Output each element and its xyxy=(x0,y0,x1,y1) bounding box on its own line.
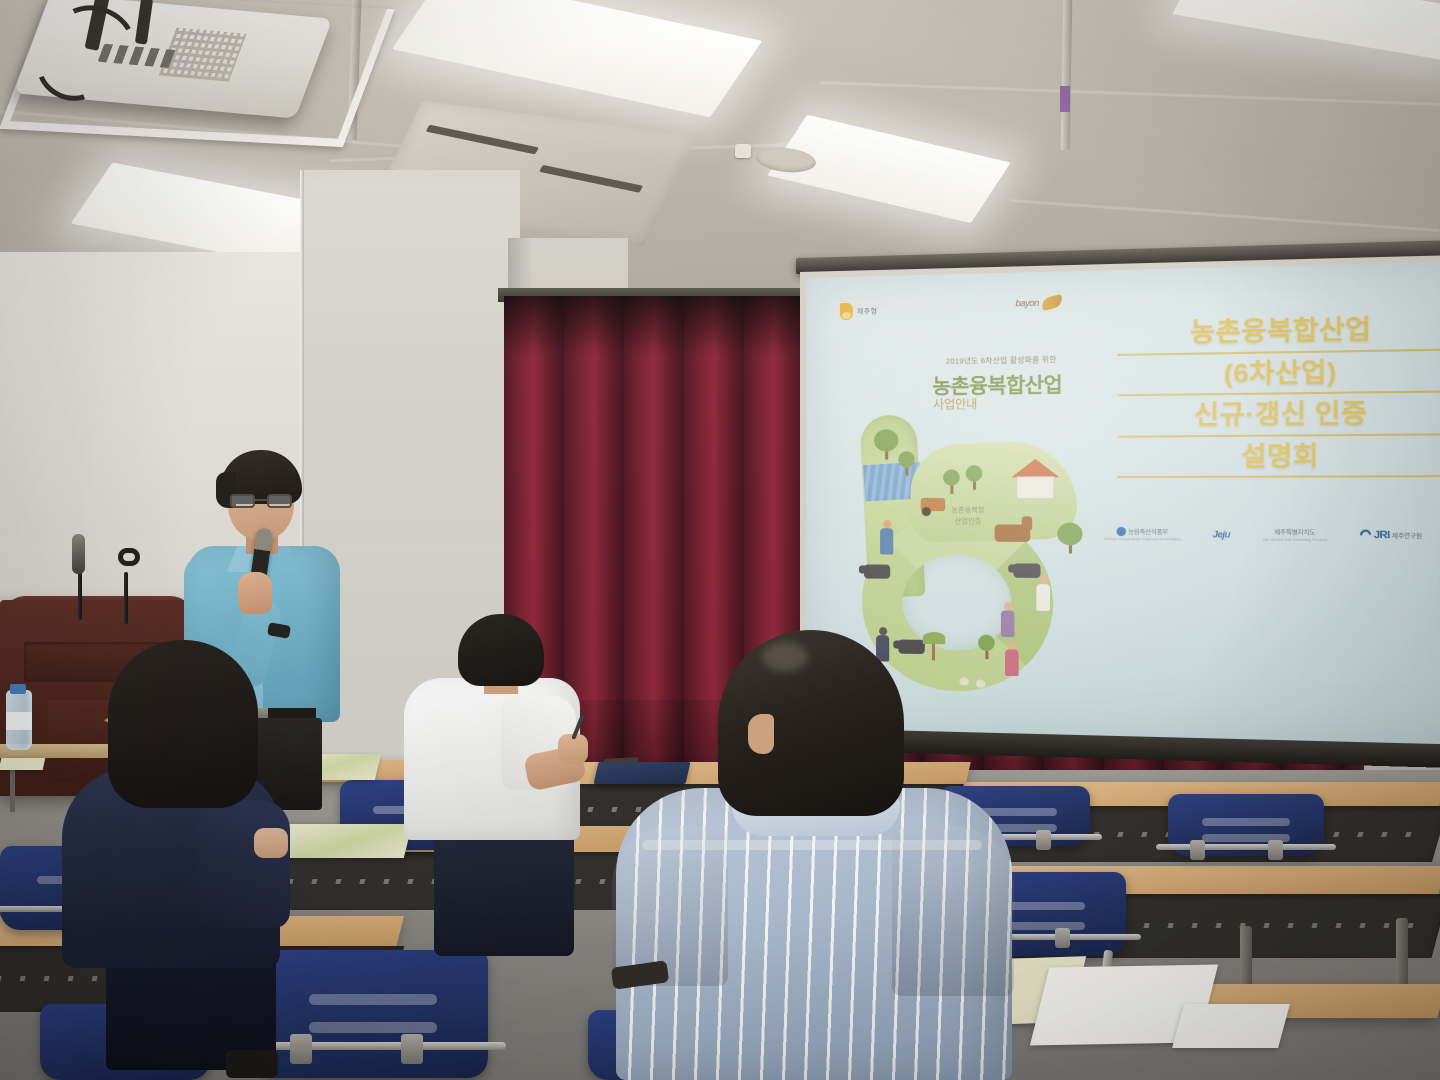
attendee-hair xyxy=(108,640,258,808)
b-mark-icon xyxy=(840,303,853,320)
tractor-icon xyxy=(921,498,946,511)
slide-logo-b-mark: 제주형 xyxy=(840,302,877,320)
slide-title-line-4: 설명회 xyxy=(1118,438,1440,478)
cow-icon xyxy=(864,564,890,578)
tree-trunk xyxy=(905,468,908,476)
figure-body xyxy=(880,528,893,554)
lens-right xyxy=(267,494,292,508)
tree-crown xyxy=(966,465,983,481)
farmhouse-roof xyxy=(1011,459,1059,478)
presenter-hand xyxy=(238,572,272,614)
jeju-province-label: 제주특별자치도 xyxy=(1274,527,1315,537)
b-mark-label: 제주형 xyxy=(857,306,877,317)
glasses-bridge xyxy=(255,499,267,501)
tree-icon xyxy=(874,429,898,459)
farmhouse-body xyxy=(1017,476,1055,499)
jri-logo: JRI 제주연구원 xyxy=(1360,529,1422,541)
mafra-mark-icon: 농림축산식품부 xyxy=(1116,527,1168,537)
tree-icon xyxy=(966,465,983,490)
attendee-shoulder xyxy=(892,826,1014,996)
bayon-label: bayon xyxy=(1015,298,1039,309)
tree-trunk xyxy=(950,486,953,494)
slide-title-line-1: 농촌융복합산업 xyxy=(1118,311,1440,355)
microphone-stalk xyxy=(78,568,82,620)
inner-note-line-2: 산업인증 xyxy=(955,518,982,525)
chair-clip xyxy=(401,1034,423,1064)
tree-icon xyxy=(943,469,959,493)
tree-crown xyxy=(874,429,898,451)
horse-icon xyxy=(995,524,1030,542)
chair-rail xyxy=(1156,844,1337,850)
attendee-ear xyxy=(748,714,774,754)
tree-crown xyxy=(898,451,914,467)
chair-clip xyxy=(1055,928,1070,948)
booklet-subtitle: 사업안내 xyxy=(904,394,1091,413)
handout-paper[interactable] xyxy=(0,758,45,770)
booklet-kicker: 2019년도 6차산업 활성화를 위한 xyxy=(919,353,1085,367)
attendee-man-striped-shirt xyxy=(606,630,1026,1080)
chef-figure-icon xyxy=(1036,576,1050,611)
fluorescent-panel-light xyxy=(392,0,762,117)
attendee-hand xyxy=(254,828,288,858)
tree-trunk xyxy=(885,452,888,460)
booklet-inner-note: 농촌융복합 산업인증 xyxy=(951,506,984,527)
ceiling-seam xyxy=(820,81,1440,106)
chair-slot xyxy=(309,1022,438,1033)
bottle-label xyxy=(6,712,32,730)
jeju-logo: Jeju xyxy=(1213,529,1230,540)
swoosh-icon xyxy=(1358,527,1374,542)
jeju-province-sublabel: Jeju Special Self-Governing Province xyxy=(1262,538,1328,542)
ac-vent xyxy=(539,165,643,193)
chair[interactable] xyxy=(1168,794,1324,856)
tree-trunk xyxy=(1068,545,1071,553)
farmer-figure-icon xyxy=(880,520,893,554)
slide-title-line-2: (6차산업) xyxy=(1118,353,1440,396)
bayon-leaf-icon xyxy=(1040,294,1063,311)
fluorescent-panel-light xyxy=(1172,0,1440,61)
handout-paper[interactable] xyxy=(1172,1004,1290,1048)
tree-icon xyxy=(1057,523,1082,554)
attendee-shoulder xyxy=(612,826,728,986)
microphone-head xyxy=(118,548,140,566)
chair-clip xyxy=(1036,830,1051,850)
inner-note-line-1: 농촌융복합 xyxy=(951,507,984,514)
sprinkler-head xyxy=(735,144,751,158)
mafra-sublabel: Ministry of Agriculture, Food and Rural … xyxy=(1104,537,1181,541)
attendee-arm xyxy=(198,800,290,928)
chair-slot xyxy=(1202,818,1289,826)
chair-slot xyxy=(309,994,438,1005)
slide-logo-bayon: bayon xyxy=(1015,296,1062,309)
figure-body xyxy=(1036,584,1050,611)
attendee-hair xyxy=(458,614,544,686)
attendee-trousers xyxy=(434,832,574,956)
slide-bottom-logos: 농림축산식품부 Ministry of Agriculture, Food an… xyxy=(1104,527,1422,543)
mafra-label: 농림축산식품부 xyxy=(1128,527,1168,536)
tree-crown xyxy=(1057,523,1082,546)
microphone-stalk xyxy=(124,572,128,624)
attendee-shoe xyxy=(226,1050,278,1078)
figure-head xyxy=(1004,602,1012,610)
tree-crown xyxy=(943,469,959,485)
mafra-logo: 농림축산식품부 Ministry of Agriculture, Food an… xyxy=(1104,527,1181,542)
conference-room-photo: 제주형 bayon 농촌융복합산업 (6차산업) 신규·갱신 인증 설명회 20… xyxy=(0,0,1440,1080)
slide-title: 농촌융복합산업 (6차산업) 신규·갱신 인증 설명회 xyxy=(1118,311,1440,481)
farmhouse-icon xyxy=(1011,459,1059,500)
attendee-hair xyxy=(718,630,904,816)
attendee-man-white-shirt xyxy=(398,614,598,954)
ac-vent xyxy=(426,125,539,155)
slide-title-line-3: 신규·갱신 인증 xyxy=(1118,396,1440,437)
flower-icon xyxy=(1116,527,1126,536)
jri-mark-icon: JRI 제주연구원 xyxy=(1360,529,1422,541)
ceiling-seam xyxy=(1010,199,1439,232)
attendee-woman-left xyxy=(58,640,302,1080)
jeju-province-logo: 제주특별자치도 Jeju Special Self-Governing Prov… xyxy=(1262,527,1328,542)
bottle-cap xyxy=(10,684,26,694)
lens-left xyxy=(230,494,255,508)
jri-sublabel: 제주연구원 xyxy=(1392,530,1422,540)
chair-clip xyxy=(1268,840,1283,860)
microphone-head xyxy=(72,534,85,574)
jeju-label: Jeju xyxy=(1213,529,1230,540)
ceiling-hanger-rod xyxy=(1061,0,1073,150)
hanger-tag xyxy=(1060,86,1070,112)
jri-label: JRI xyxy=(1374,529,1390,541)
tree-trunk xyxy=(972,482,975,490)
eyeglasses-icon xyxy=(230,494,292,508)
figure-head xyxy=(1039,576,1047,584)
figure-head xyxy=(883,520,891,528)
chair-clip xyxy=(1190,840,1205,860)
tree-icon xyxy=(898,451,914,475)
